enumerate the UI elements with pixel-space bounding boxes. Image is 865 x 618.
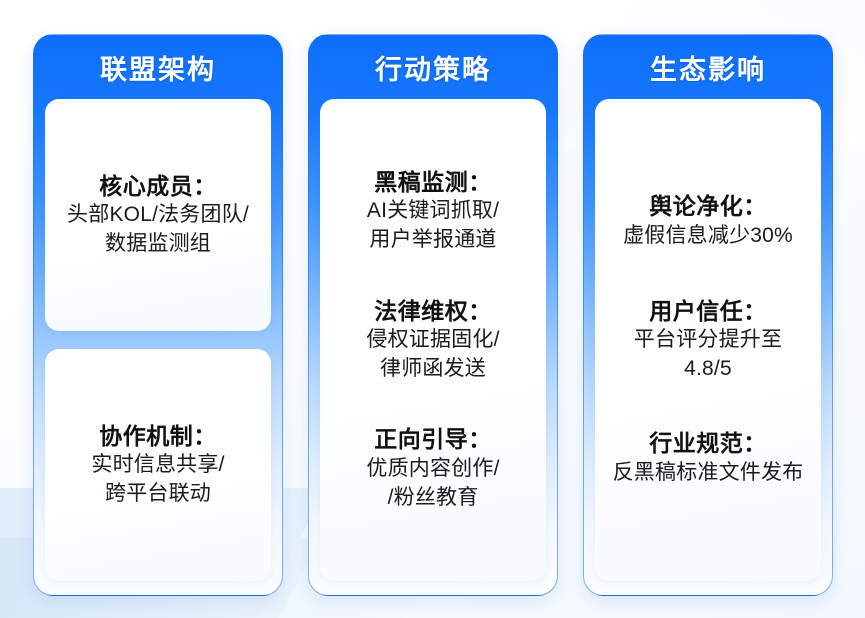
block-line: 4.8/5 xyxy=(603,355,813,384)
block-core-members: 核心成员： 头部KOL/法务团队/ 数据监测组 xyxy=(51,166,265,265)
panel-core-members: 核心成员： 头部KOL/法务团队/ 数据监测组 xyxy=(45,99,271,331)
infographic-canvas: 联盟架构 核心成员： 头部KOL/法务团队/ 数据监测组 协作机制： 实时信息共… xyxy=(0,0,865,618)
block-title: 法律维权： xyxy=(328,297,538,327)
panel-strategy: 黑稿监测： AI关键词抓取/ 用户举报通道 法律维权： 侵权证据固化/ 律师函发… xyxy=(320,99,546,581)
block-line: /粉丝教育 xyxy=(328,484,538,513)
column-action-strategy: 行动策略 黑稿监测： AI关键词抓取/ 用户举报通道 法律维权： 侵权证据固化/… xyxy=(308,34,558,596)
block-public-opinion-purification: 舆论净化： 虚假信息减少30% xyxy=(601,186,815,256)
block-title: 黑稿监测： xyxy=(328,168,538,198)
column-title-ecosystem-impact: 生态影响 xyxy=(584,35,832,99)
block-collaboration-mechanism: 协作机制： 实时信息共享/ 跨平台联动 xyxy=(51,416,265,515)
block-line: 头部KOL/法务团队/ xyxy=(53,201,263,230)
block-title: 协作机制： xyxy=(53,422,263,452)
block-line: 律师函发送 xyxy=(328,355,538,384)
panel-collaboration-mechanism: 协作机制： 实时信息共享/ 跨平台联动 xyxy=(45,349,271,581)
column-container: 联盟架构 核心成员： 头部KOL/法务团队/ 数据监测组 协作机制： 实时信息共… xyxy=(33,34,833,596)
block-line: 反黑稿标准文件发布 xyxy=(603,459,813,488)
block-user-trust: 用户信任： 平台评分提升至 4.8/5 xyxy=(601,291,815,390)
block-industry-standards: 行业规范： 反黑稿标准文件发布 xyxy=(601,423,815,493)
panels-action-strategy: 黑稿监测： AI关键词抓取/ 用户举报通道 法律维权： 侵权证据固化/ 律师函发… xyxy=(309,99,557,595)
block-line: 用户举报通道 xyxy=(328,226,538,255)
block-line: 侵权证据固化/ xyxy=(328,326,538,355)
block-legal-rights-protection: 法律维权： 侵权证据固化/ 律师函发送 xyxy=(326,291,540,390)
block-line: 优质内容创作/ xyxy=(328,455,538,484)
block-title: 用户信任： xyxy=(603,297,813,327)
block-line: 数据监测组 xyxy=(53,230,263,259)
block-positive-guidance: 正向引导： 优质内容创作/ /粉丝教育 xyxy=(326,419,540,518)
column-alliance-structure: 联盟架构 核心成员： 头部KOL/法务团队/ 数据监测组 协作机制： 实时信息共… xyxy=(33,34,283,596)
column-title-action-strategy: 行动策略 xyxy=(309,35,557,99)
block-line: 实时信息共享/ xyxy=(53,451,263,480)
block-line: 跨平台联动 xyxy=(53,480,263,509)
block-title: 舆论净化： xyxy=(603,192,813,222)
block-title: 核心成员： xyxy=(53,172,263,202)
panels-alliance-structure: 核心成员： 头部KOL/法务团队/ 数据监测组 协作机制： 实时信息共享/ 跨平… xyxy=(34,99,282,595)
block-line: AI关键词抓取/ xyxy=(328,197,538,226)
panel-impact: 舆论净化： 虚假信息减少30% 用户信任： 平台评分提升至 4.8/5 行业规范… xyxy=(595,99,821,581)
column-title-alliance-structure: 联盟架构 xyxy=(34,35,282,99)
column-ecosystem-impact: 生态影响 舆论净化： 虚假信息减少30% 用户信任： 平台评分提升至 4.8/5… xyxy=(583,34,833,596)
block-line: 虚假信息减少30% xyxy=(603,222,813,251)
panels-ecosystem-impact: 舆论净化： 虚假信息减少30% 用户信任： 平台评分提升至 4.8/5 行业规范… xyxy=(584,99,832,595)
block-title: 正向引导： xyxy=(328,425,538,455)
block-line: 平台评分提升至 xyxy=(603,326,813,355)
block-title: 行业规范： xyxy=(603,429,813,459)
block-black-pr-monitoring: 黑稿监测： AI关键词抓取/ 用户举报通道 xyxy=(326,162,540,261)
